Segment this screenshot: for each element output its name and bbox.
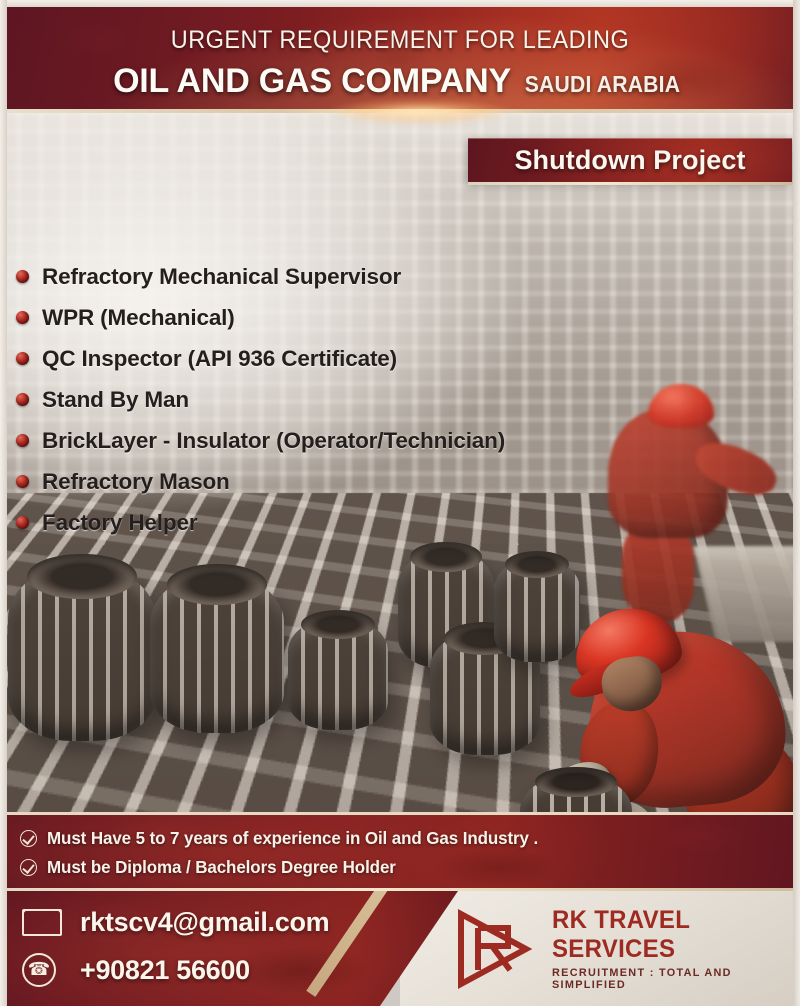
header-country: SAUDI ARABIA bbox=[525, 71, 680, 98]
bullet-icon bbox=[16, 393, 29, 406]
contact-email-row[interactable]: rktscv4@gmail.com bbox=[22, 898, 329, 946]
position-title: WPR (Mechanical) bbox=[42, 305, 235, 331]
company-logo: RK TRAVEL SERVICES RECRUITMENT : TOTAL A… bbox=[452, 906, 800, 991]
footer-top-divider bbox=[0, 888, 800, 891]
requirement-row: Must Have 5 to 7 years of experience in … bbox=[20, 824, 800, 853]
list-item: BrickLayer - Insulator (Operator/Technic… bbox=[16, 420, 560, 461]
position-title: Refractory Mechanical Supervisor bbox=[42, 264, 401, 290]
rk-monogram-icon bbox=[452, 908, 538, 990]
bullet-icon bbox=[16, 311, 29, 324]
recruitment-poster: URGENT REQUIREMENT FOR LEADING OIL AND G… bbox=[0, 0, 800, 1006]
requirements-bar: Must Have 5 to 7 years of experience in … bbox=[0, 812, 800, 888]
header-subtitle: URGENT REQUIREMENT FOR LEADING bbox=[24, 26, 776, 55]
company-name: RK TRAVEL SERVICES bbox=[552, 906, 790, 964]
phone-icon: ☎ bbox=[22, 953, 68, 987]
bullet-icon bbox=[16, 352, 29, 365]
header-title: OIL AND GAS COMPANY bbox=[113, 62, 511, 100]
position-title: Stand By Man bbox=[42, 387, 189, 413]
poster-header: URGENT REQUIREMENT FOR LEADING OIL AND G… bbox=[0, 7, 800, 113]
envelope-icon bbox=[22, 909, 68, 936]
check-icon bbox=[20, 859, 37, 876]
list-item: Stand By Man bbox=[16, 379, 560, 420]
contact-phone-row[interactable]: ☎ +90821 56600 bbox=[22, 946, 329, 994]
requirement-text: Must be Diploma / Bachelors Degree Holde… bbox=[47, 857, 396, 878]
position-title: Factory Helper bbox=[42, 510, 197, 536]
positions-list: Refractory Mechanical Supervisor WPR (Me… bbox=[0, 113, 560, 543]
contact-block: rktscv4@gmail.com ☎ +90821 56600 bbox=[22, 898, 329, 994]
position-title: QC Inspector (API 936 Certificate) bbox=[42, 346, 397, 372]
bullet-icon bbox=[16, 475, 29, 488]
requirement-text: Must Have 5 to 7 years of experience in … bbox=[47, 828, 538, 849]
position-title: Refractory Mason bbox=[42, 469, 230, 495]
position-title: BrickLayer - Insulator (Operator/Technic… bbox=[42, 428, 505, 454]
list-item: QC Inspector (API 936 Certificate) bbox=[16, 338, 560, 379]
company-tagline: RECRUITMENT : TOTAL AND SIMPLIFIED bbox=[552, 967, 793, 991]
requirement-row: Must be Diploma / Bachelors Degree Holde… bbox=[20, 853, 800, 882]
list-item: Factory Helper bbox=[16, 502, 560, 543]
contact-phone[interactable]: +90821 56600 bbox=[80, 955, 250, 986]
check-icon bbox=[20, 830, 37, 847]
bullet-icon bbox=[16, 434, 29, 447]
brick-ring-foreground bbox=[520, 775, 632, 812]
list-item: Refractory Mechanical Supervisor bbox=[16, 256, 560, 297]
list-item: WPR (Mechanical) bbox=[16, 297, 560, 338]
bullet-icon bbox=[16, 516, 29, 529]
poster-footer: rktscv4@gmail.com ☎ +90821 56600 bbox=[0, 888, 800, 1006]
contact-email[interactable]: rktscv4@gmail.com bbox=[80, 907, 329, 938]
bullet-icon bbox=[16, 270, 29, 283]
frame-top-edge bbox=[0, 0, 800, 7]
list-item: Refractory Mason bbox=[16, 461, 560, 502]
